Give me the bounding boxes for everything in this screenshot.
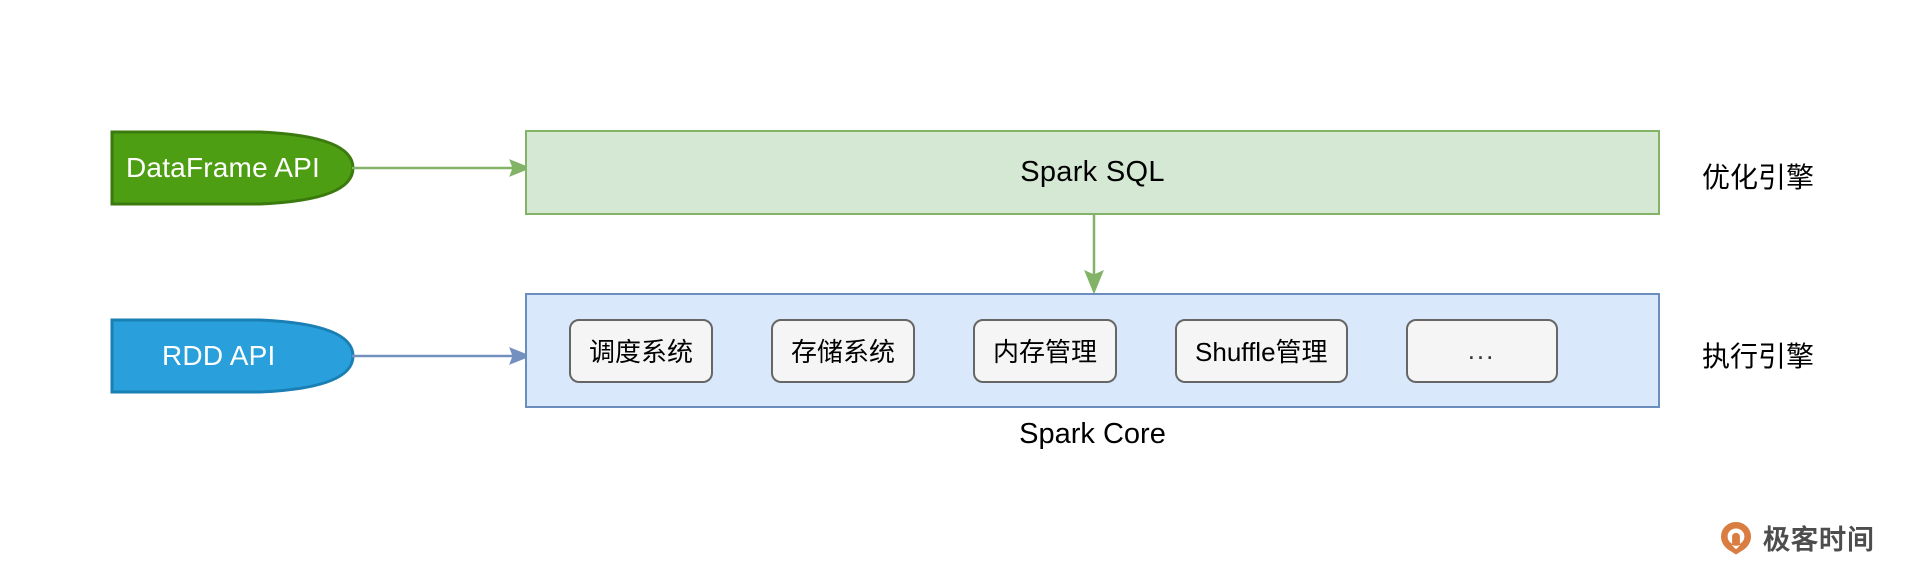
core-module-memory[interactable]: 内存管理	[973, 319, 1117, 383]
core-module-label: 调度系统	[589, 332, 693, 369]
diagram-canvas: DataFrame API Spark SQL RDD API 调度系统 存储系…	[0, 0, 1920, 587]
execution-engine-label: 执行引擎	[1702, 335, 1814, 375]
rdd-api-shape[interactable]: RDD API	[110, 318, 355, 394]
core-module-more[interactable]: ...	[1406, 319, 1558, 383]
spark-core-caption: Spark Core	[525, 418, 1660, 451]
watermark: 极客时间	[1718, 518, 1875, 557]
core-module-label: ...	[1468, 335, 1496, 366]
arrow-sparksql-to-sparkcore	[1082, 213, 1106, 297]
arrow-dataframe-to-sparksql	[352, 156, 534, 180]
core-module-label: 内存管理	[993, 332, 1097, 369]
core-module-scheduler[interactable]: 调度系统	[569, 319, 713, 383]
optimizer-engine-label: 优化引擎	[1702, 156, 1814, 196]
dataframe-api-shape[interactable]: DataFrame API	[110, 130, 355, 206]
dataframe-api-label: DataFrame API	[126, 152, 320, 184]
core-module-shuffle[interactable]: Shuffle管理	[1175, 319, 1347, 383]
geektime-logo-icon	[1718, 520, 1754, 556]
arrow-rdd-to-sparkcore	[352, 344, 534, 368]
rdd-api-label: RDD API	[162, 340, 275, 372]
core-module-label: 存储系统	[791, 332, 895, 369]
spark-core-layer[interactable]: 调度系统 存储系统 内存管理 Shuffle管理 ...	[525, 293, 1660, 408]
core-module-storage[interactable]: 存储系统	[771, 319, 915, 383]
core-module-label: Shuffle管理	[1195, 332, 1327, 369]
spark-sql-layer[interactable]: Spark SQL	[525, 130, 1660, 215]
spark-sql-title: Spark SQL	[1020, 156, 1165, 189]
watermark-text: 极客时间	[1763, 518, 1875, 557]
